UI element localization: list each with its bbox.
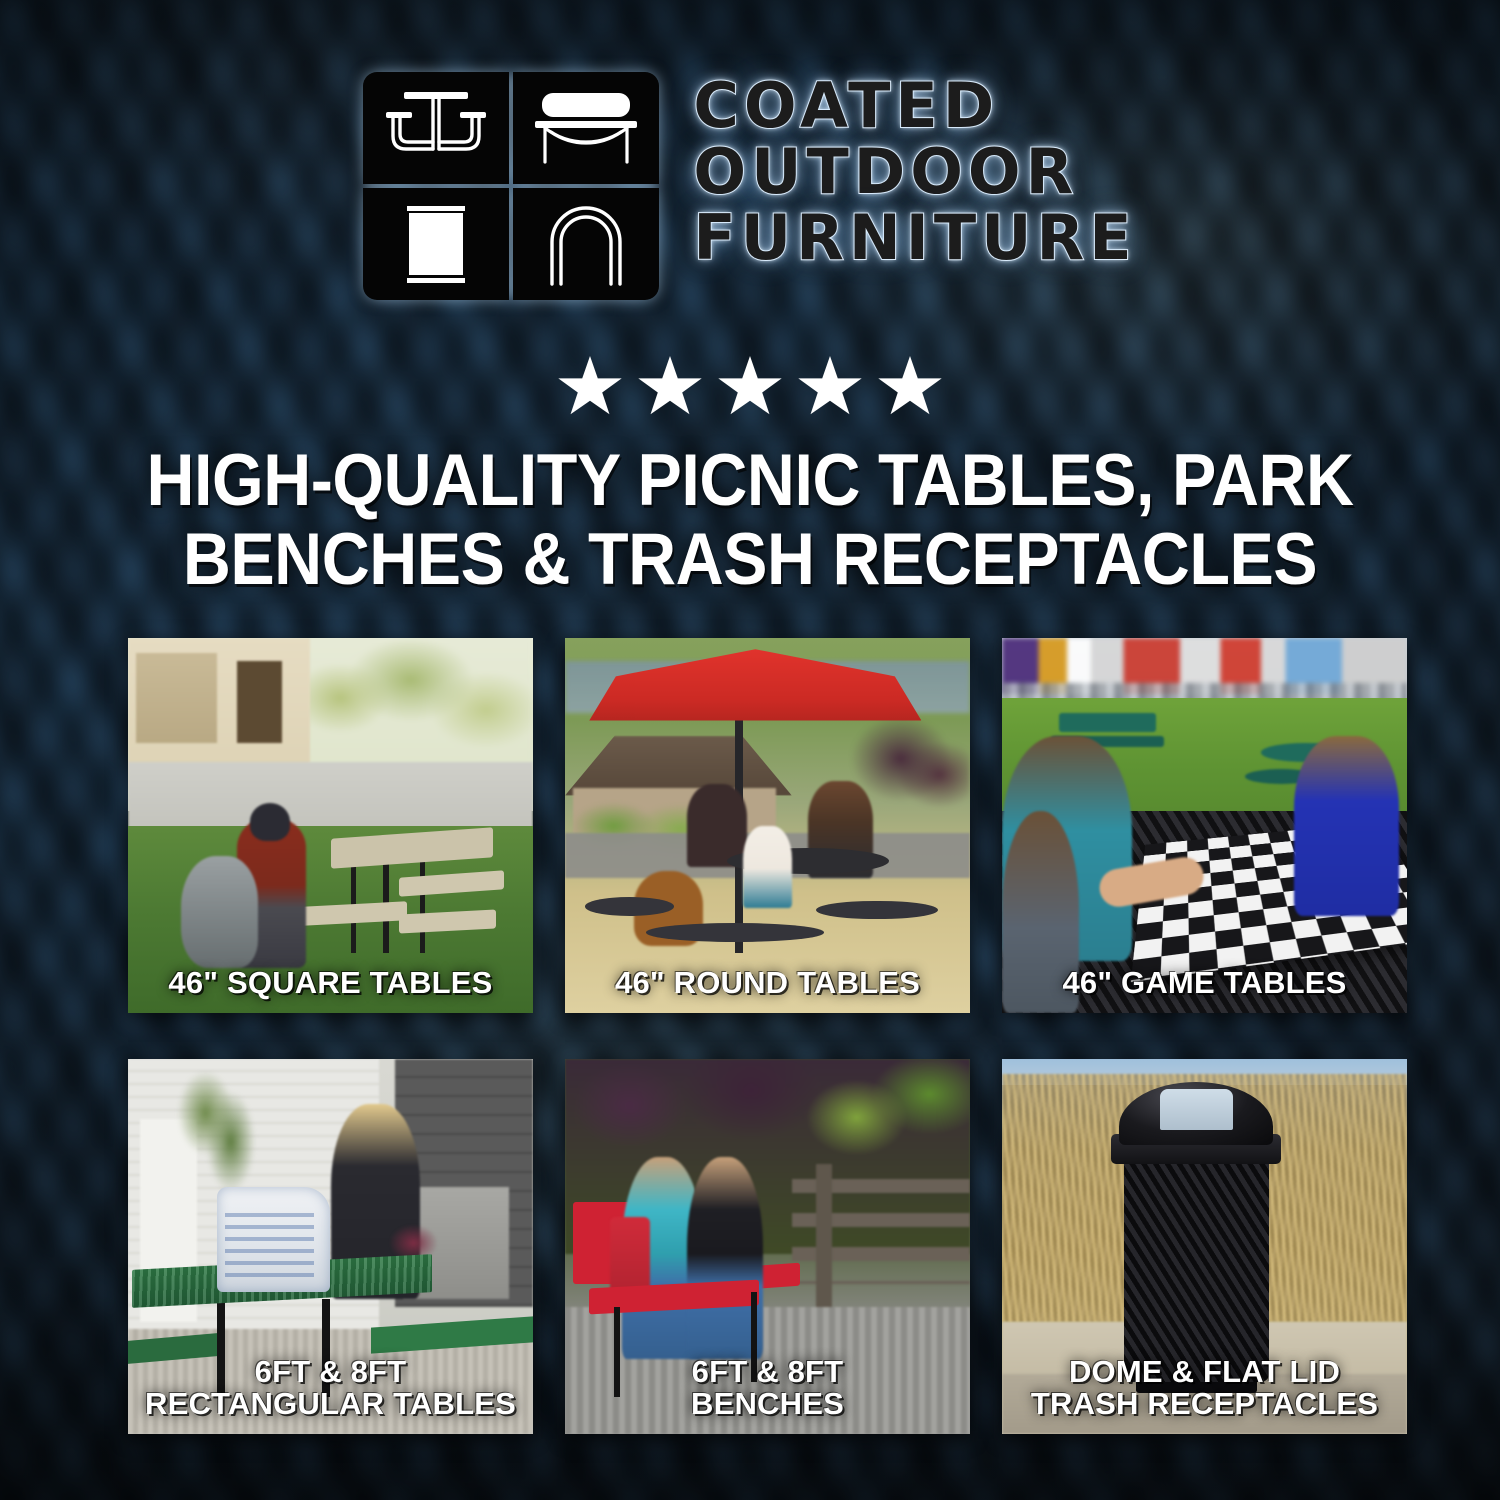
park-bench-icon xyxy=(513,72,659,184)
star-icon-1 xyxy=(557,356,623,420)
product-caption-rectangular-tables: 6FT & 8FT RECTANGULAR TABLES xyxy=(128,1356,533,1420)
product-card-game-tables[interactable]: 46" GAME TABLES xyxy=(1002,638,1407,1013)
star-icon-4 xyxy=(797,356,863,420)
brand-name-line-3: FURNITURE xyxy=(693,208,1136,268)
headline-line-2: BENCHES & TRASH RECEPTACLES xyxy=(68,521,1433,600)
product-card-benches[interactable]: 6FT & 8FT BENCHES xyxy=(565,1059,970,1434)
promo-banner: COATED OUTDOOR FURNITURE HIGH-QUALITY PI… xyxy=(0,0,1500,1500)
product-photo-game-tables xyxy=(1002,638,1407,1013)
picnic-table-frame-icon xyxy=(363,72,509,184)
brand-name: COATED OUTDOOR FURNITURE xyxy=(693,72,1136,268)
star-rating xyxy=(0,356,1500,420)
headline: HIGH-QUALITY PICNIC TABLES, PARK BENCHES… xyxy=(68,442,1433,600)
product-photo-round-tables xyxy=(565,638,970,1013)
product-caption-square-tables: 46" SQUARE TABLES xyxy=(128,967,533,999)
product-card-square-tables[interactable]: 46" SQUARE TABLES xyxy=(128,638,533,1013)
star-icon-2 xyxy=(637,356,703,420)
product-caption-benches: 6FT & 8FT BENCHES xyxy=(565,1356,970,1420)
brand-name-line-1: COATED xyxy=(693,76,1136,136)
product-card-round-tables[interactable]: 46" ROUND TABLES xyxy=(565,638,970,1013)
product-photo-square-tables xyxy=(128,638,533,1013)
star-icon-3 xyxy=(717,356,783,420)
logo-icon-grid xyxy=(363,72,659,300)
brand-name-line-2: OUTDOOR xyxy=(693,142,1136,202)
banner-content: COATED OUTDOOR FURNITURE HIGH-QUALITY PI… xyxy=(0,0,1500,1500)
star-icon-5 xyxy=(877,356,943,420)
headline-line-1: HIGH-QUALITY PICNIC TABLES, PARK xyxy=(68,442,1433,521)
arch-bike-rack-icon xyxy=(513,188,659,300)
product-grid: 46" SQUARE TABLES xyxy=(128,638,1374,1434)
product-caption-round-tables: 46" ROUND TABLES xyxy=(565,967,970,999)
brand-logo: COATED OUTDOOR FURNITURE xyxy=(0,72,1500,300)
product-caption-game-tables: 46" GAME TABLES xyxy=(1002,967,1407,999)
trash-receptacle-icon xyxy=(363,188,509,300)
product-card-trash-receptacles[interactable]: DOME & FLAT LID TRASH RECEPTACLES xyxy=(1002,1059,1407,1434)
product-card-rectangular-tables[interactable]: 6FT & 8FT RECTANGULAR TABLES xyxy=(128,1059,533,1434)
product-caption-trash-receptacles: DOME & FLAT LID TRASH RECEPTACLES xyxy=(1002,1356,1407,1420)
